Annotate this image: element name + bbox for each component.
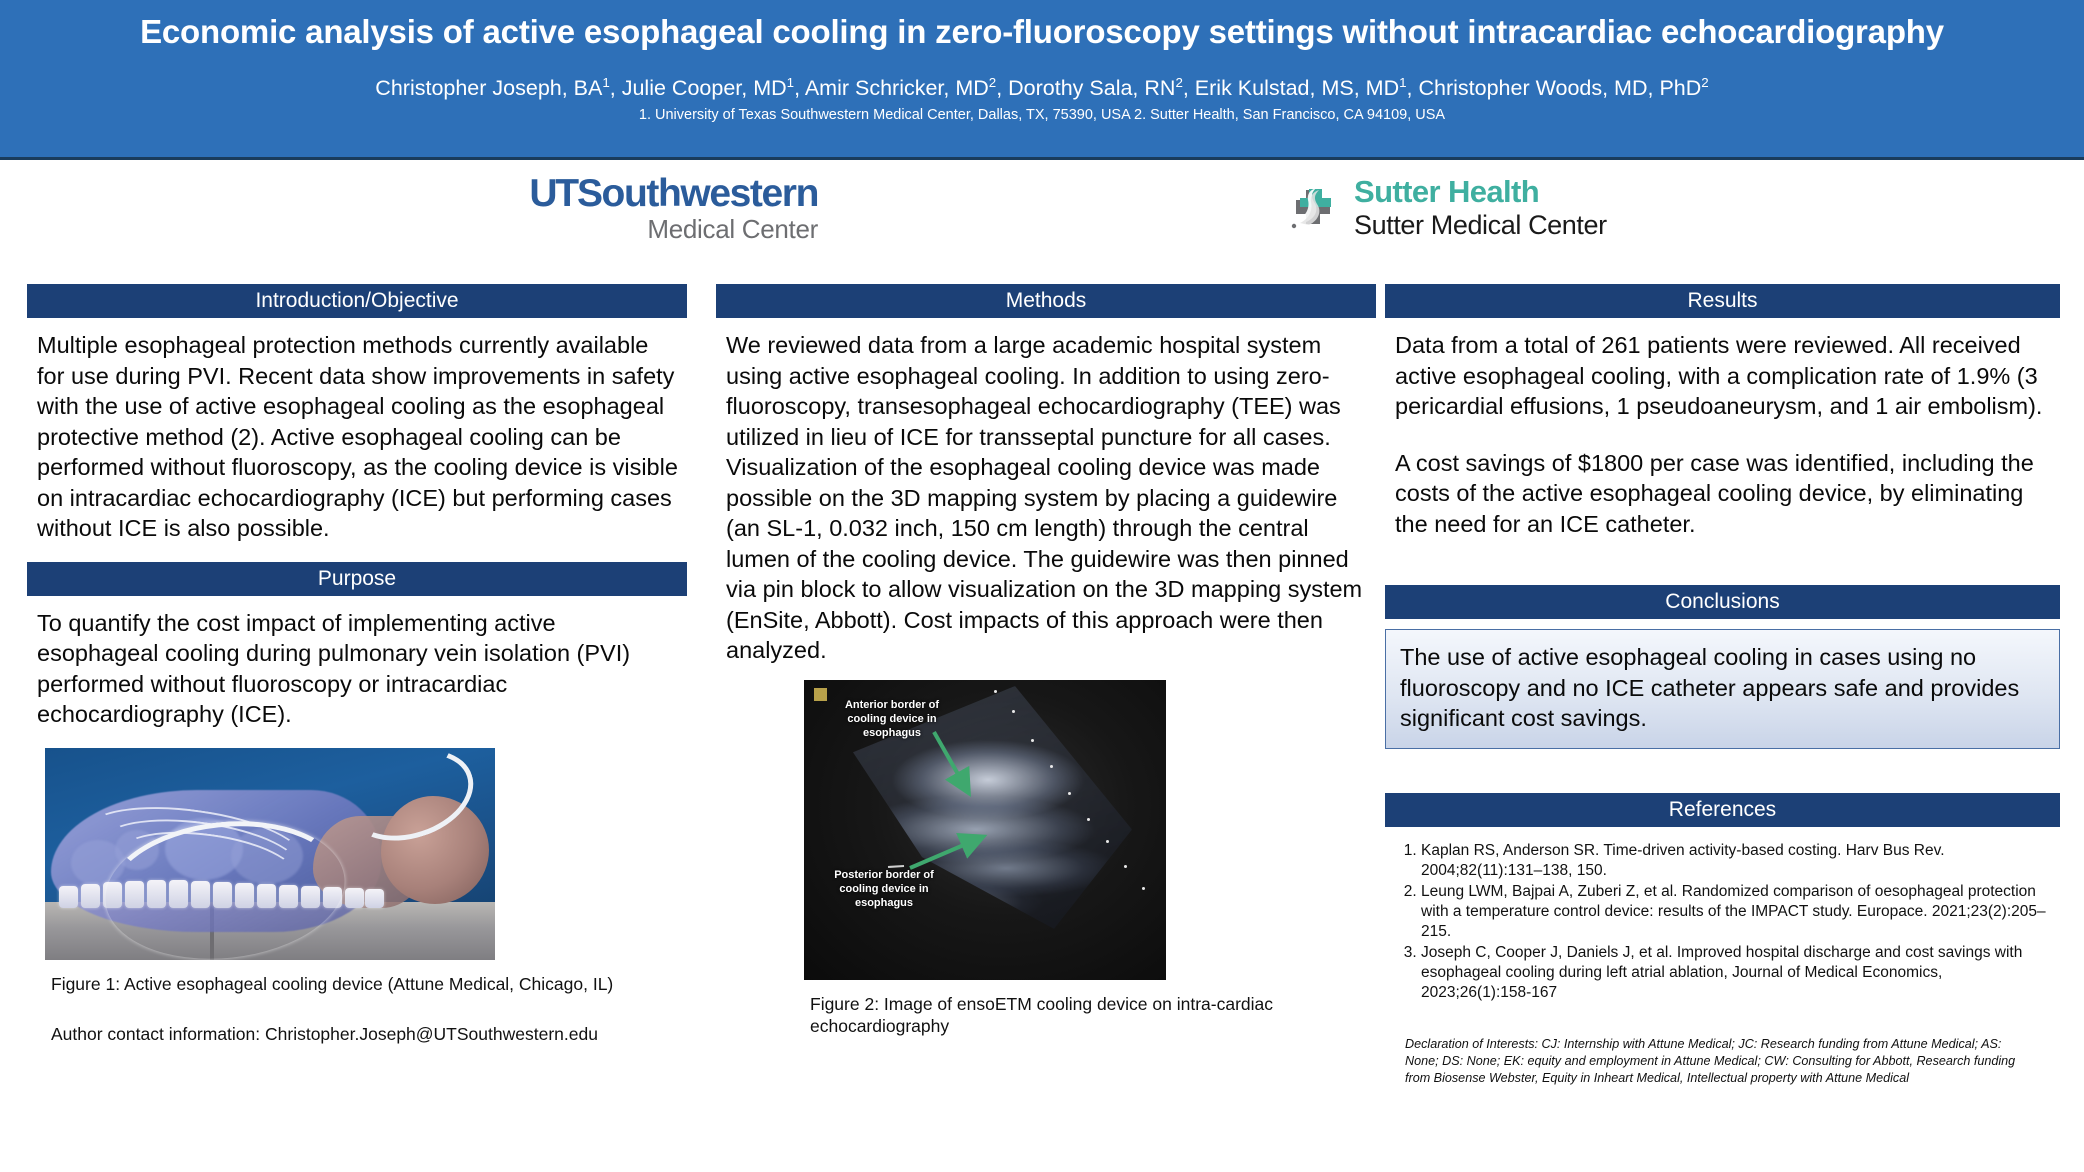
ut-southwestern-logo-line1: UTSouthwestern [478, 174, 818, 213]
conclusions-text: The use of active esophageal cooling in … [1400, 644, 2019, 731]
section-header-purpose: Purpose [27, 562, 687, 596]
sutter-cross-swirl-icon [1286, 178, 1342, 234]
author-list: Christopher Joseph, BA1, Julie Cooper, M… [18, 76, 2066, 102]
sutter-health-logo: Sutter Health Sutter Medical Center [1286, 176, 1706, 246]
column-right: Results Data from a total of 261 patient… [1385, 284, 2060, 1086]
anterior-border-arrow [934, 732, 967, 790]
poster-title: Economic analysis of active esophageal c… [18, 14, 2066, 51]
spacer [27, 544, 687, 562]
purpose-paragraph: To quantify the cost impact of implement… [37, 608, 681, 730]
introduction-paragraph: Multiple esophageal protection methods c… [37, 330, 681, 544]
figure2-wrapper: Anterior border of cooling device in eso… [716, 680, 1376, 1038]
references-list: Kaplan RS, Anderson SR. Time-driven acti… [1385, 839, 2060, 1002]
logo-strip: UTSouthwestern Medical Center Sutter Hea… [0, 160, 2084, 280]
results-paragraph-2: A cost savings of $1800 per case was ide… [1395, 448, 2054, 540]
section-header-introduction: Introduction/Objective [27, 284, 687, 318]
posterior-border-arrow [910, 838, 980, 868]
ut-southwestern-logo: UTSouthwestern Medical Center [478, 174, 818, 245]
figure2-caption: Figure 2: Image of ensoETM cooling devic… [804, 994, 1376, 1038]
section-body-purpose: To quantify the cost impact of implement… [27, 596, 687, 730]
conclusions-callout-box: The use of active esophageal cooling in … [1385, 629, 2060, 749]
ut-southwestern-logo-ut: UT [529, 172, 577, 215]
reference-item: Kaplan RS, Anderson SR. Time-driven acti… [1421, 841, 2052, 880]
sutter-logo-line2: Sutter Medical Center [1354, 210, 1607, 241]
ut-southwestern-logo-word: Southwestern [577, 172, 818, 215]
spacer [1385, 539, 2060, 585]
figure1-image [45, 748, 495, 960]
results-paragraph-1: Data from a total of 261 patients were r… [1395, 330, 2054, 422]
section-header-conclusions: Conclusions [1385, 585, 2060, 619]
section-header-methods: Methods [716, 284, 1376, 318]
figure2-label-anterior: Anterior border of cooling device in eso… [838, 698, 946, 740]
reference-item: Joseph C, Cooper J, Daniels J, et al. Im… [1421, 943, 2052, 1002]
section-body-methods: We reviewed data from a large academic h… [716, 318, 1376, 666]
sutter-logo-line1: Sutter Health [1354, 176, 1607, 209]
sutter-logo-text: Sutter Health Sutter Medical Center [1354, 176, 1607, 241]
poster-header-banner: Economic analysis of active esophageal c… [0, 0, 2084, 160]
section-header-references: References [1385, 793, 2060, 827]
column-left: Introduction/Objective Multiple esophage… [27, 284, 687, 1046]
spacer [1385, 749, 2060, 793]
poster-root: Economic analysis of active esophageal c… [0, 0, 2084, 1172]
figure1-caption: Figure 1: Active esophageal cooling devi… [45, 974, 687, 996]
author-contact-info: Author contact information: Christopher.… [45, 1024, 687, 1046]
figure1-wrapper: Figure 1: Active esophageal cooling devi… [27, 748, 687, 1046]
reference-item: Leung LWM, Bajpai A, Zuberi Z, et al. Ra… [1421, 882, 2052, 941]
methods-paragraph: We reviewed data from a large academic h… [726, 330, 1370, 666]
figure2-label-posterior: Posterior border of cooling device in es… [828, 868, 940, 910]
ut-southwestern-logo-line2: Medical Center [478, 215, 818, 245]
affiliations: 1. University of Texas Southwestern Medi… [18, 107, 2066, 124]
references-ordered-list: Kaplan RS, Anderson SR. Time-driven acti… [1399, 841, 2052, 1002]
section-body-introduction: Multiple esophageal protection methods c… [27, 318, 687, 544]
section-header-results: Results [1385, 284, 2060, 318]
figure2-image: Anterior border of cooling device in eso… [804, 680, 1166, 980]
column-middle: Methods We reviewed data from a large ac… [716, 284, 1376, 1038]
section-body-results: Data from a total of 261 patients were r… [1385, 318, 2060, 539]
declaration-of-interests: Declaration of Interests: CJ: Internship… [1385, 1036, 2060, 1086]
